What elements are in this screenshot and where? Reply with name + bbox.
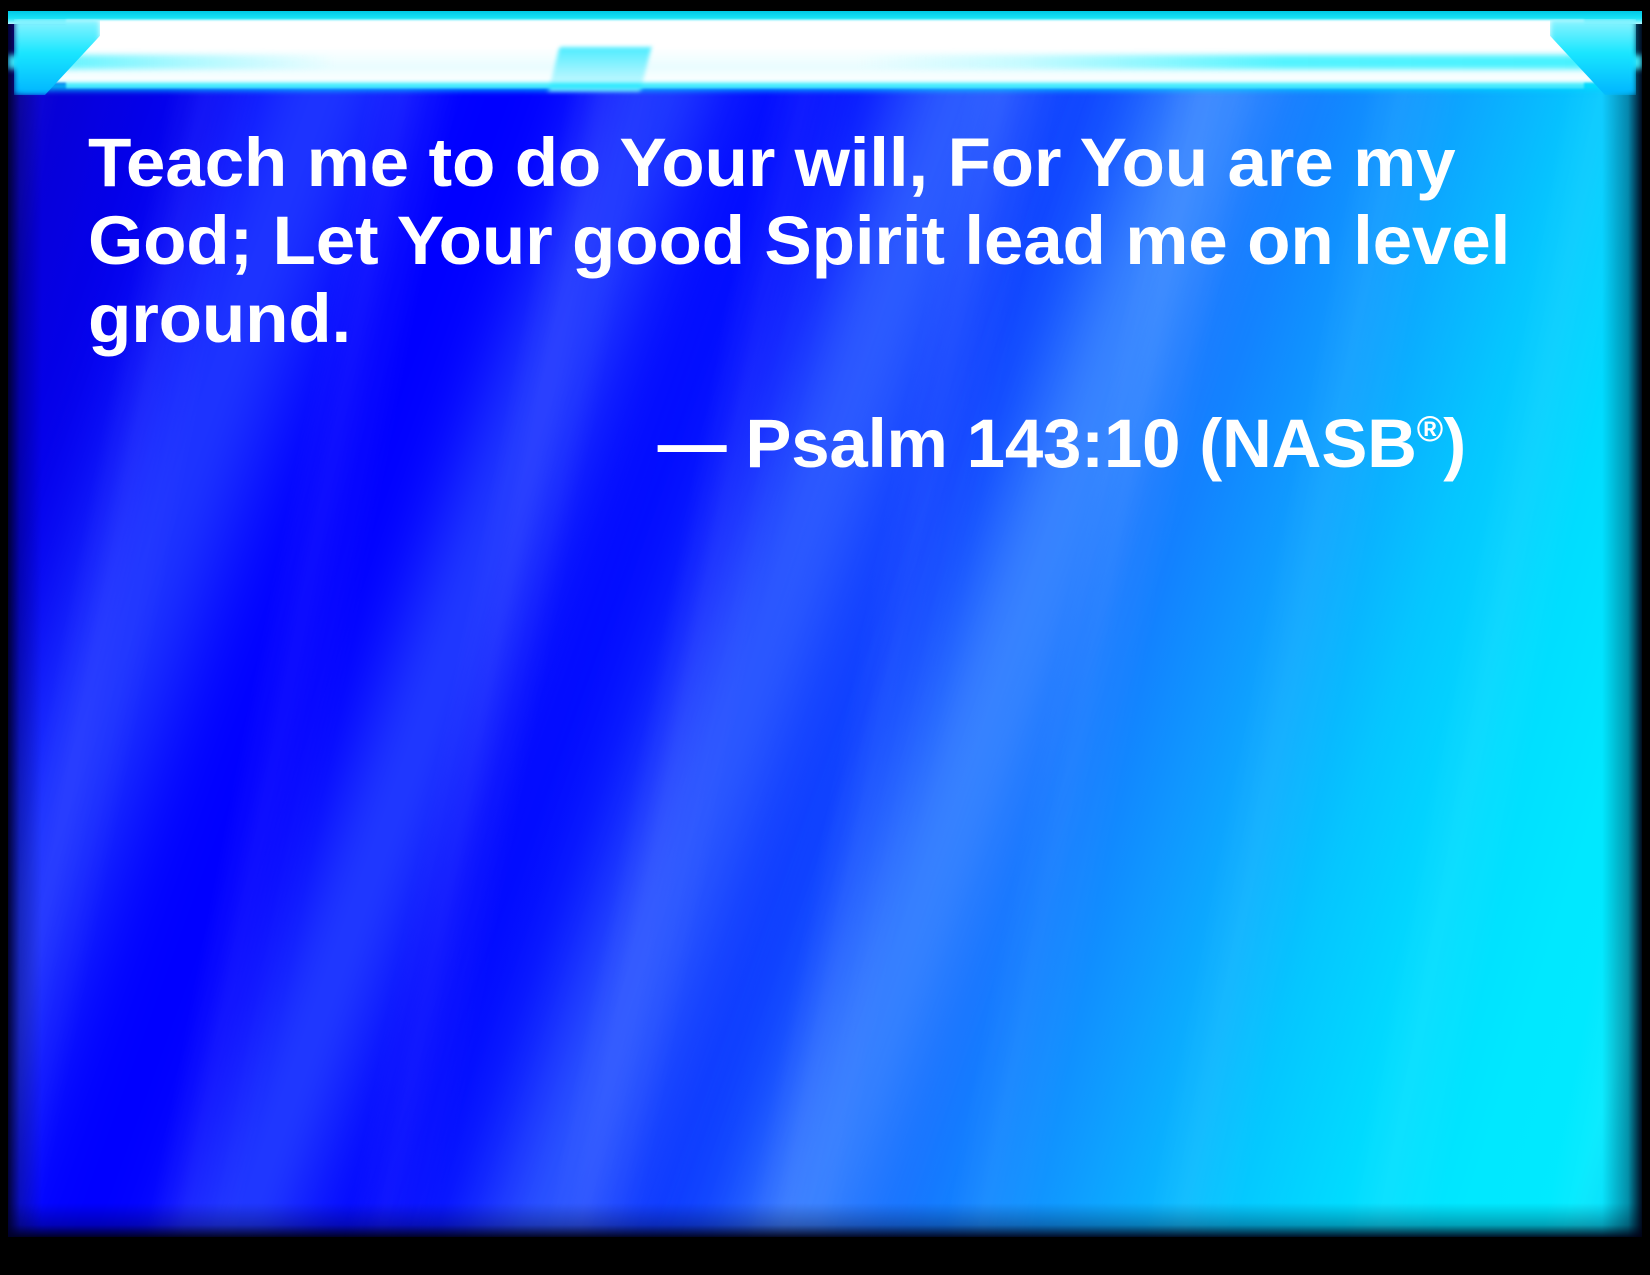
slide-frame: Teach me to do Your will, For You are my… xyxy=(0,0,1650,1275)
attribution-suffix: ) xyxy=(1443,405,1466,482)
verse-attribution: — Psalm 143:10 (NASB®) xyxy=(88,390,1488,483)
registered-trademark-icon: ® xyxy=(1417,409,1443,449)
verse-text: Teach me to do Your will, For You are my… xyxy=(88,124,1530,358)
slide-canvas: Teach me to do Your will, For You are my… xyxy=(8,11,1642,1237)
verse-block: Teach me to do Your will, For You are my… xyxy=(88,124,1488,483)
attribution-prefix: — Psalm 143:10 (NASB xyxy=(658,405,1417,482)
